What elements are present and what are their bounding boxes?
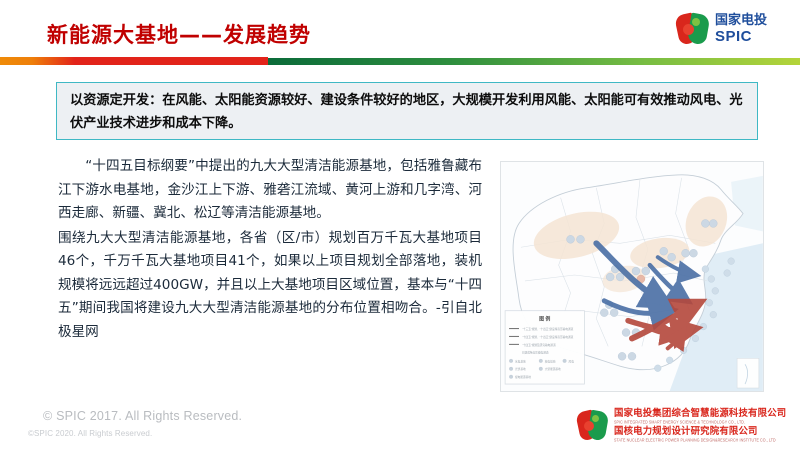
svg-text:风电: 风电 [569, 359, 575, 363]
footer-company-line-2: 国核电力规划设计研究院有限公司 STATE NUCLEAR ELECTRIC P… [614, 427, 786, 443]
slide-canvas: 新能源大基地——发展趋势 国家电投 SPIC 以资源定开发：在风能、太阳能资源较… [0, 0, 800, 450]
footer-company-line-1: 国家电投集团综合智慧能源科技有限公司 SPIC INTEGRATED SMART… [614, 409, 786, 425]
spic-swirl-logo-icon [676, 12, 710, 46]
callout-text: 以资源定开发：在风能、太阳能资源较好、建设条件较好的地区，大规模开发利用风能、太… [70, 90, 745, 135]
svg-text:图 例: 图 例 [539, 316, 550, 323]
footer-copyright-primary: © SPIC 2017. All Rights Reserved. [43, 409, 242, 423]
footer-company-2-en: STATE NUCLEAR ELECTRIC POWER PLANNING DE… [614, 438, 786, 444]
callout-box: 以资源定开发：在风能、太阳能资源较好、建设条件较好的地区，大规模开发利用风能、太… [56, 82, 758, 140]
brand-logo-text: 国家电投 SPIC [715, 14, 767, 44]
svg-text:“十四五”规划及研究输电通道: “十四五”规划及研究输电通道 [522, 343, 556, 347]
svg-text:光伏基地: 光伏基地 [515, 367, 526, 371]
divider-segment-green [268, 58, 800, 65]
svg-text:煤电能源基地: 煤电能源基地 [515, 375, 531, 379]
footer-company-logo: 国家电投集团综合智慧能源科技有限公司 SPIC INTEGRATED SMART… [578, 406, 792, 446]
footer-copyright-secondary: ©SPIC 2020. All Rights Reserved. [28, 429, 152, 438]
svg-text:大型能源基地: 大型能源基地 [545, 367, 561, 371]
map-svg: 图 例 “十三五”规划、“十四五”建设特高压输电通道 “十四五”规划、“十四五”… [501, 162, 763, 391]
svg-text:“十三五”规划、“十四五”建设特高压输电通道: “十三五”规划、“十四五”建设特高压输电通道 [522, 327, 574, 331]
china-clean-energy-base-map: 图 例 “十三五”规划、“十四五”建设特高压输电通道 “十四五”规划、“十四五”… [500, 161, 764, 392]
page-title: 新能源大基地——发展趋势 [47, 19, 311, 49]
brand-logo: 国家电投 SPIC [676, 10, 788, 48]
spic-swirl-logo-icon-footer [578, 410, 608, 442]
footer-company-1-cn: 国家电投集团综合智慧能源科技有限公司 [614, 409, 786, 420]
slide-header: 新能源大基地——发展趋势 国家电投 SPIC [0, 0, 800, 72]
body-paragraph-2: 围绕九大大型清洁能源基地，各省（区/市）规划百万千瓦大基地项目46个，千万千瓦大… [58, 227, 482, 345]
footer-company-names: 国家电投集团综合智慧能源科技有限公司 SPIC INTEGRATED SMART… [614, 409, 786, 442]
brand-logo-cn: 国家电投 [715, 14, 767, 27]
svg-text:水电基地: 水电基地 [515, 359, 526, 363]
map-legend: 图 例 “十三五”规划、“十四五”建设特高压输电通道 “十四五”规划、“十四五”… [505, 311, 584, 384]
body-paragraph-1: “十四五目标纲要”中提出的九大大型清洁能源基地，包括雅鲁藏布江下游水电基地，金沙… [58, 155, 482, 226]
footer-company-2-cn: 国核电力规划设计研究院有限公司 [614, 427, 786, 438]
brand-logo-en: SPIC [715, 29, 767, 44]
footer-company-1-en: SPIC INTEGRATED SMART ENERGY SCIENCE & T… [614, 420, 786, 426]
divider-segment-warm [0, 57, 268, 65]
header-divider-bar [0, 55, 800, 65]
svg-text:已建成特高压输电通道: 已建成特高压输电通道 [522, 351, 549, 355]
body-text-block: “十四五目标纲要”中提出的九大大型清洁能源基地，包括雅鲁藏布江下游水电基地，金沙… [58, 155, 482, 344]
svg-text:核电基地: 核电基地 [545, 359, 556, 363]
svg-text:“十四五”规划、“十四五”建设特高压输电通道: “十四五”规划、“十四五”建设特高压输电通道 [522, 335, 574, 339]
